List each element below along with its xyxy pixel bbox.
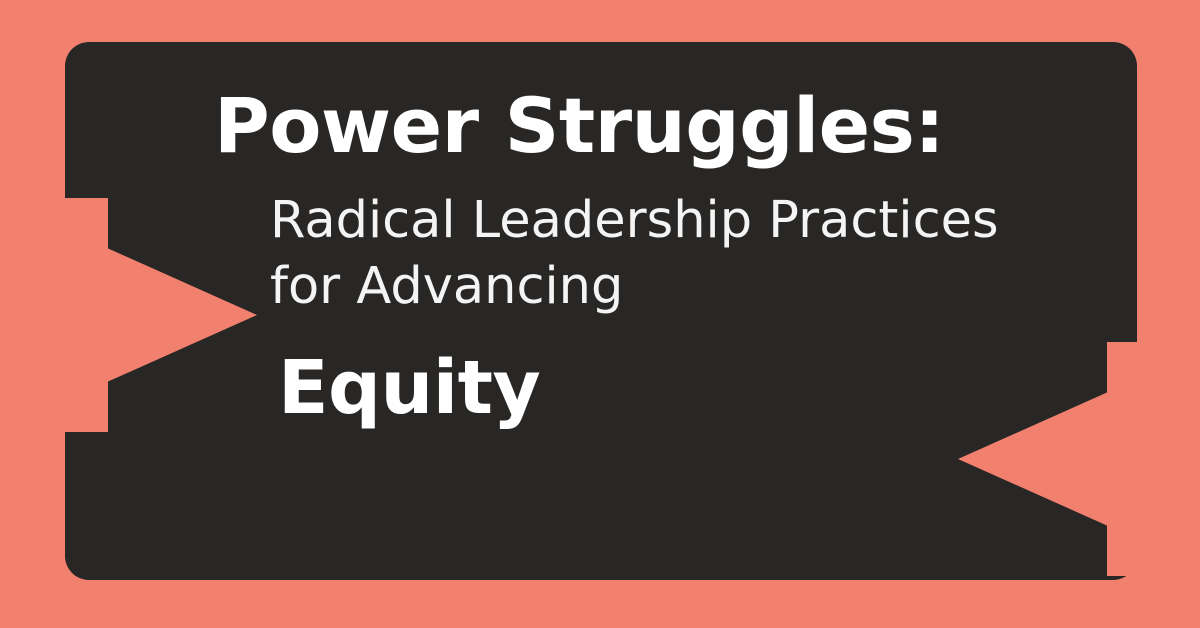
poster-canvas: Power Struggles: Radical Leadership Prac…	[0, 0, 1200, 628]
poster-subtitle: Radical Leadership Practices for Advanci…	[270, 188, 1104, 320]
poster-subtitle-line-1: Radical Leadership Practices	[270, 188, 1104, 254]
poster-keyword: Equity	[278, 346, 1104, 430]
poster-text-block: Power Struggles: Radical Leadership Prac…	[214, 82, 1104, 430]
poster-title: Power Struggles:	[214, 82, 1104, 170]
poster-subtitle-line-2: for Advancing	[270, 254, 1104, 320]
